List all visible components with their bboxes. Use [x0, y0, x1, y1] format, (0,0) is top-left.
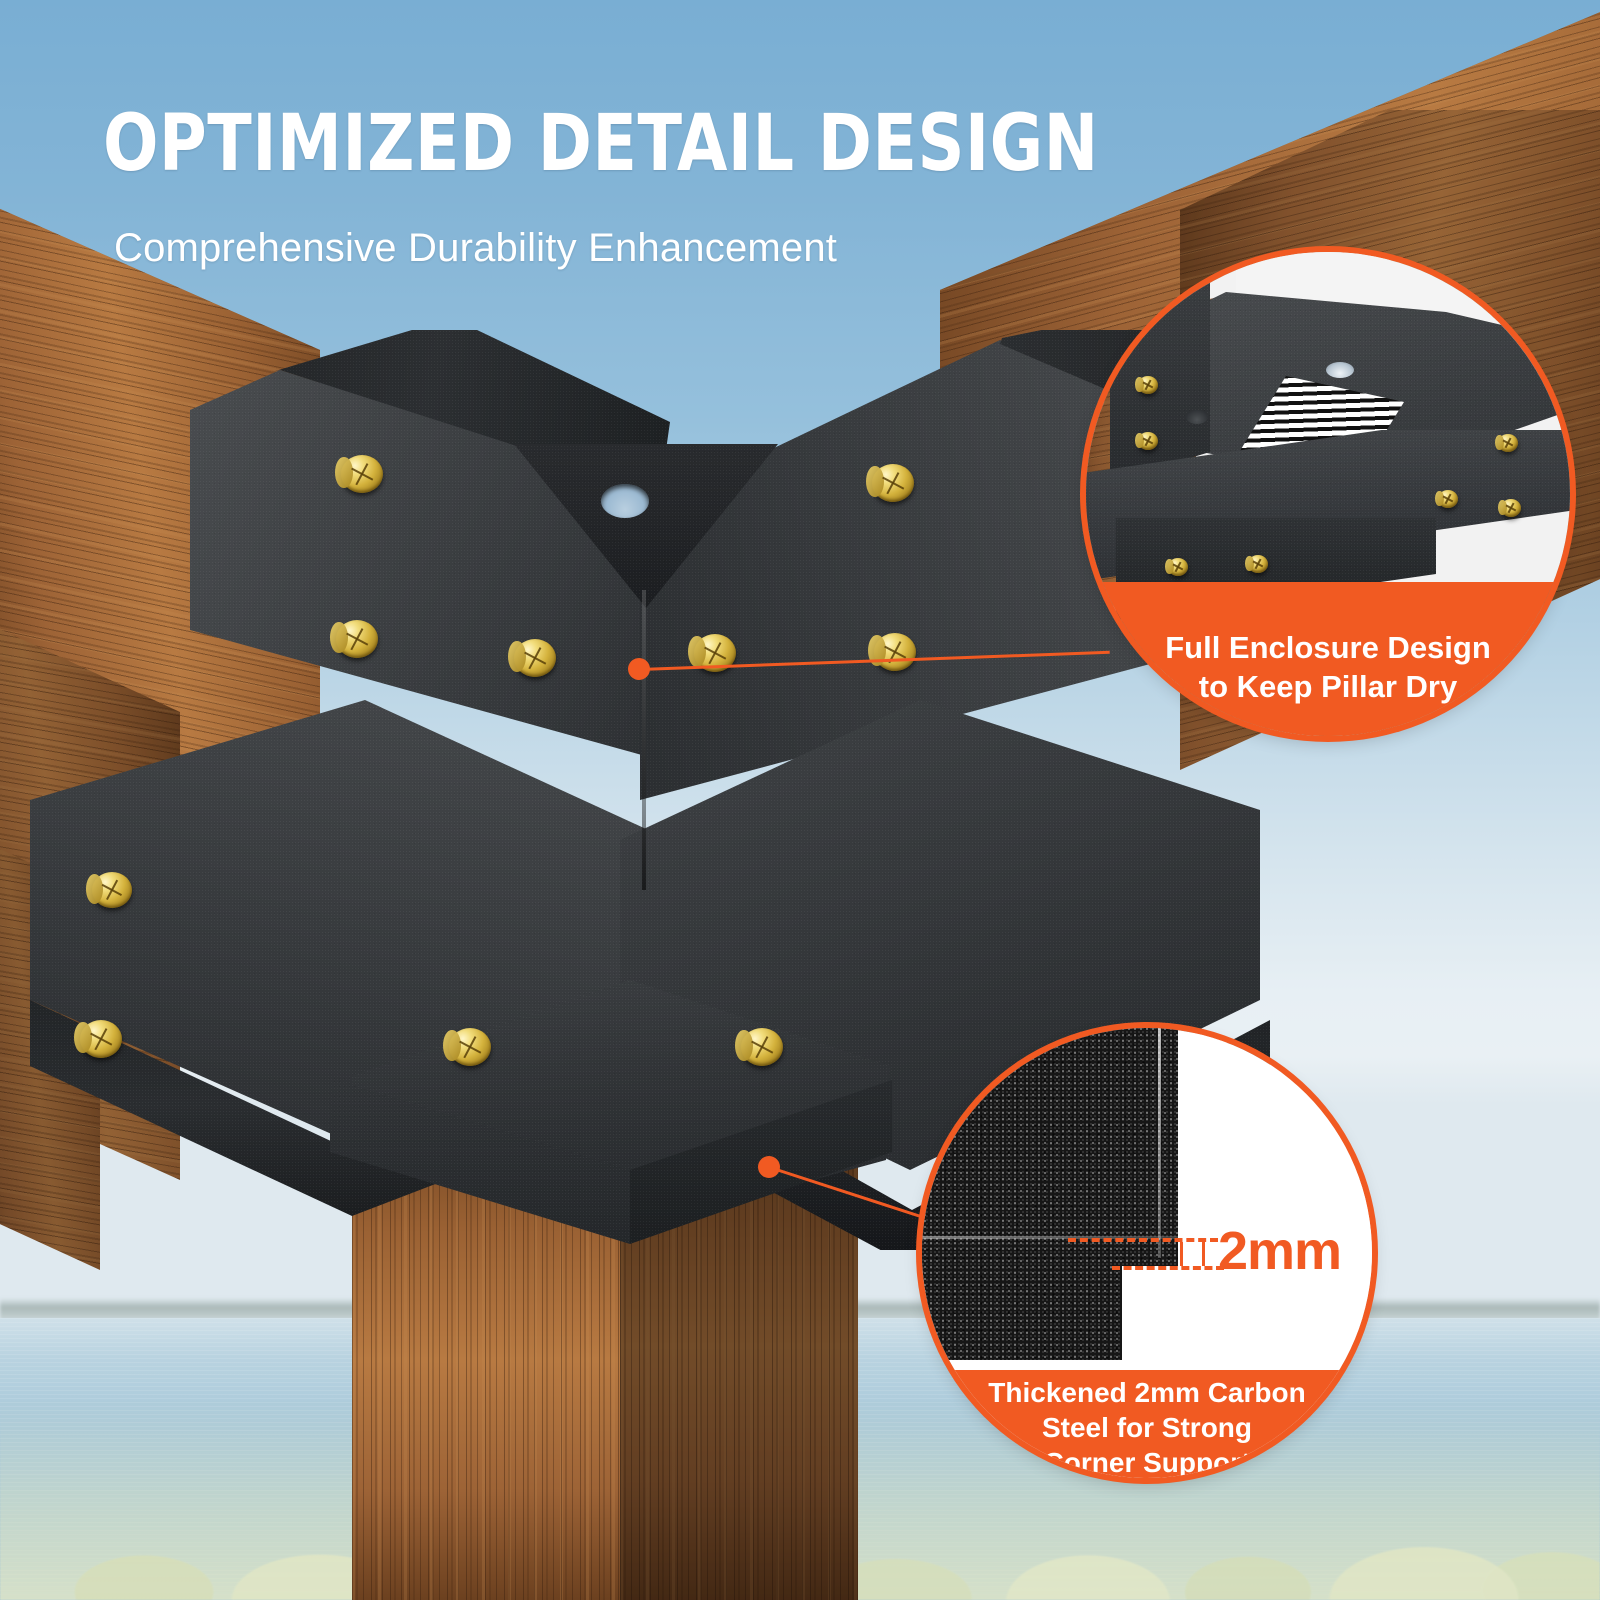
dimension-line-top — [1068, 1238, 1218, 1242]
bracket-drain-hole — [601, 484, 649, 518]
screw-head — [341, 455, 383, 493]
callout2-steel-edge — [1118, 1240, 1178, 1266]
screw-head — [1138, 432, 1158, 450]
dimension-line-bottom — [1112, 1266, 1224, 1270]
screw-head — [741, 1028, 783, 1066]
screw-head — [92, 872, 132, 908]
screw-head — [1438, 490, 1458, 508]
callout-enclosure-banner: Full Enclosure Design to Keep Pillar Dry — [1086, 582, 1570, 736]
page-title: OPTIMIZED DETAIL DESIGN — [103, 98, 1099, 190]
screw-head — [80, 1020, 122, 1058]
screw-head — [1248, 555, 1268, 573]
callout-thickness-line3: Corner Support — [1044, 1445, 1251, 1479]
dimension-tick-left — [1180, 1242, 1183, 1266]
callout-thickness-banner: Thickened 2mm Carbon Steel for Strong Co… — [922, 1370, 1372, 1478]
callout-enclosure-line2: to Keep Pillar Dry — [1199, 667, 1457, 706]
screw-head — [1138, 376, 1158, 394]
screw-head — [872, 464, 914, 502]
callout-enclosure-line1: Full Enclosure Design — [1165, 628, 1491, 667]
page-subtitle: Comprehensive Durability Enhancement — [114, 222, 837, 274]
callout2-steel-horizontal — [922, 1240, 1122, 1360]
leader-dot-enclosure — [628, 658, 650, 680]
thickness-dimension-label: 2mm — [1218, 1224, 1341, 1278]
product-marketing-image: OPTIMIZED DETAIL DESIGN Comprehensive Du… — [0, 0, 1600, 1600]
callout-thickness-line2: Steel for Strong — [1042, 1410, 1252, 1445]
callout-full-enclosure[interactable]: Full Enclosure Design to Keep Pillar Dry — [1086, 252, 1570, 736]
leader-dot-thickness — [758, 1156, 780, 1178]
screw-head — [336, 620, 378, 658]
callout2-edge-highlight — [1158, 1028, 1161, 1258]
bracket-center-crease — [642, 590, 646, 890]
screw-head — [1501, 499, 1521, 517]
dimension-tick-right — [1202, 1242, 1205, 1266]
callout2-steel-vertical — [922, 1028, 1178, 1266]
screw-head — [449, 1028, 491, 1066]
callout-thickness[interactable]: 2mm Thickened 2mm Carbon Steel for Stron… — [922, 1028, 1372, 1478]
screw-head — [874, 633, 916, 671]
callout1-drain-hole — [1326, 362, 1354, 378]
callout-thickness-line1: Thickened 2mm Carbon — [988, 1375, 1305, 1410]
screw-head — [1168, 558, 1188, 576]
screw-head — [1498, 434, 1518, 452]
callout1-pilot-hole — [1186, 410, 1208, 424]
screw-head — [514, 639, 556, 677]
